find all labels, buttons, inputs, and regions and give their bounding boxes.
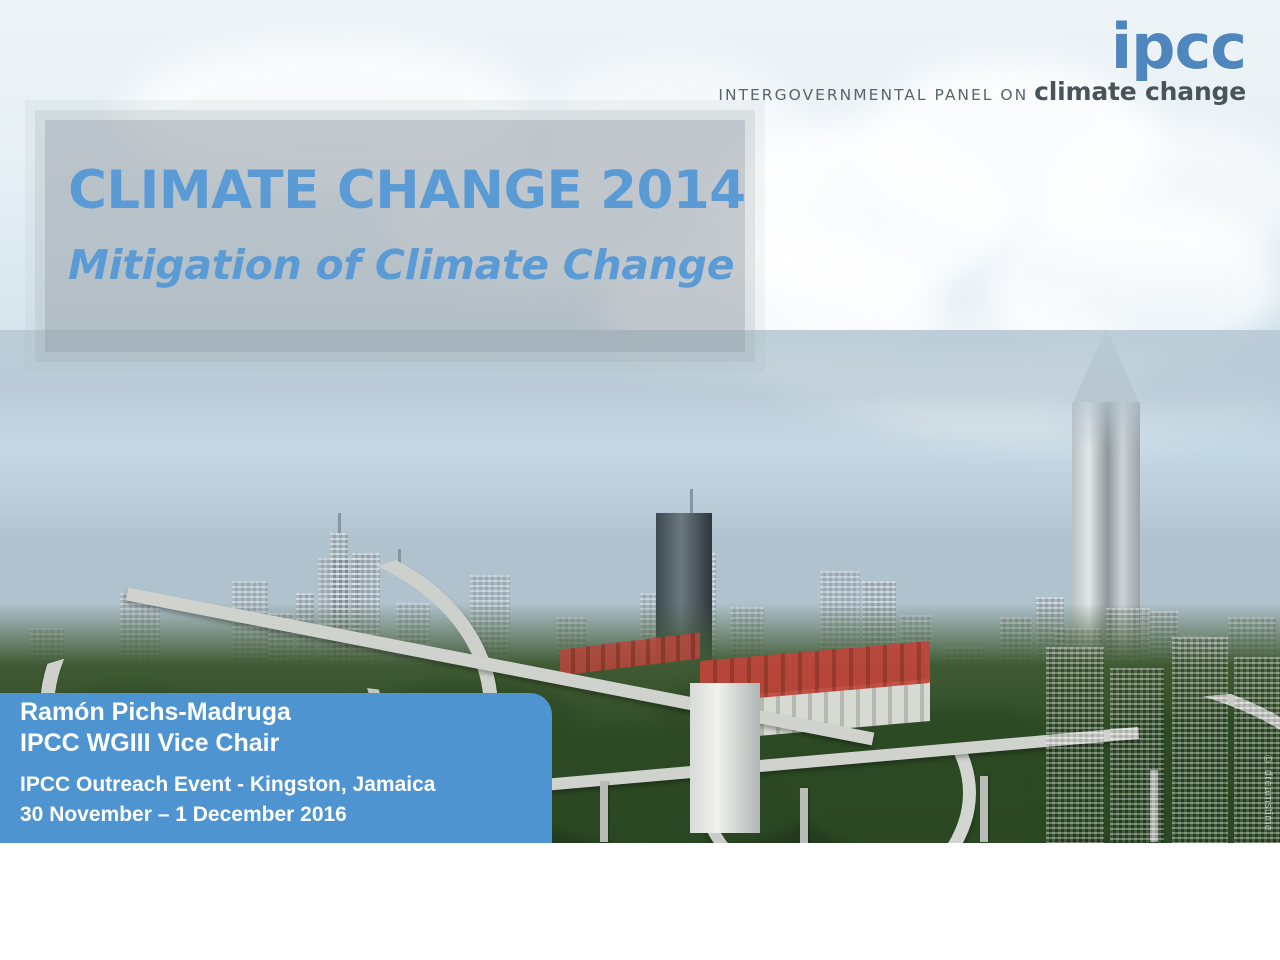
ipcc-logo: ipcc INTERGOVERNMENTAL PANEL ONclimate c…: [718, 18, 1246, 106]
author-name: Ramón Pichs-Madruga: [20, 698, 291, 727]
event-dates: 30 November – 1 December 2016: [20, 803, 347, 827]
presentation-slide: © dreamstime ipcc INTERGOVERNMENTAL PANE…: [0, 0, 1280, 960]
page-subtitle: Mitigation of Climate Change: [68, 241, 734, 289]
ipcc-tagline-small: INTERGOVERNMENTAL PANEL ON: [718, 86, 1028, 104]
ipcc-wordmark: ipcc: [718, 18, 1246, 75]
page-title: CLIMATE CHANGE 2014: [68, 160, 746, 221]
ipcc-tagline-big: climate change: [1034, 77, 1246, 106]
title-overlay-panel: [45, 120, 745, 352]
ipcc-tagline: INTERGOVERNMENTAL PANEL ONclimate change: [718, 77, 1246, 106]
author-role: IPCC WGIII Vice Chair: [20, 729, 279, 758]
footer-bar: Working Group III contribution to the IP…: [0, 843, 1280, 960]
event-name: IPCC Outreach Event - Kingston, Jamaica: [20, 773, 435, 797]
